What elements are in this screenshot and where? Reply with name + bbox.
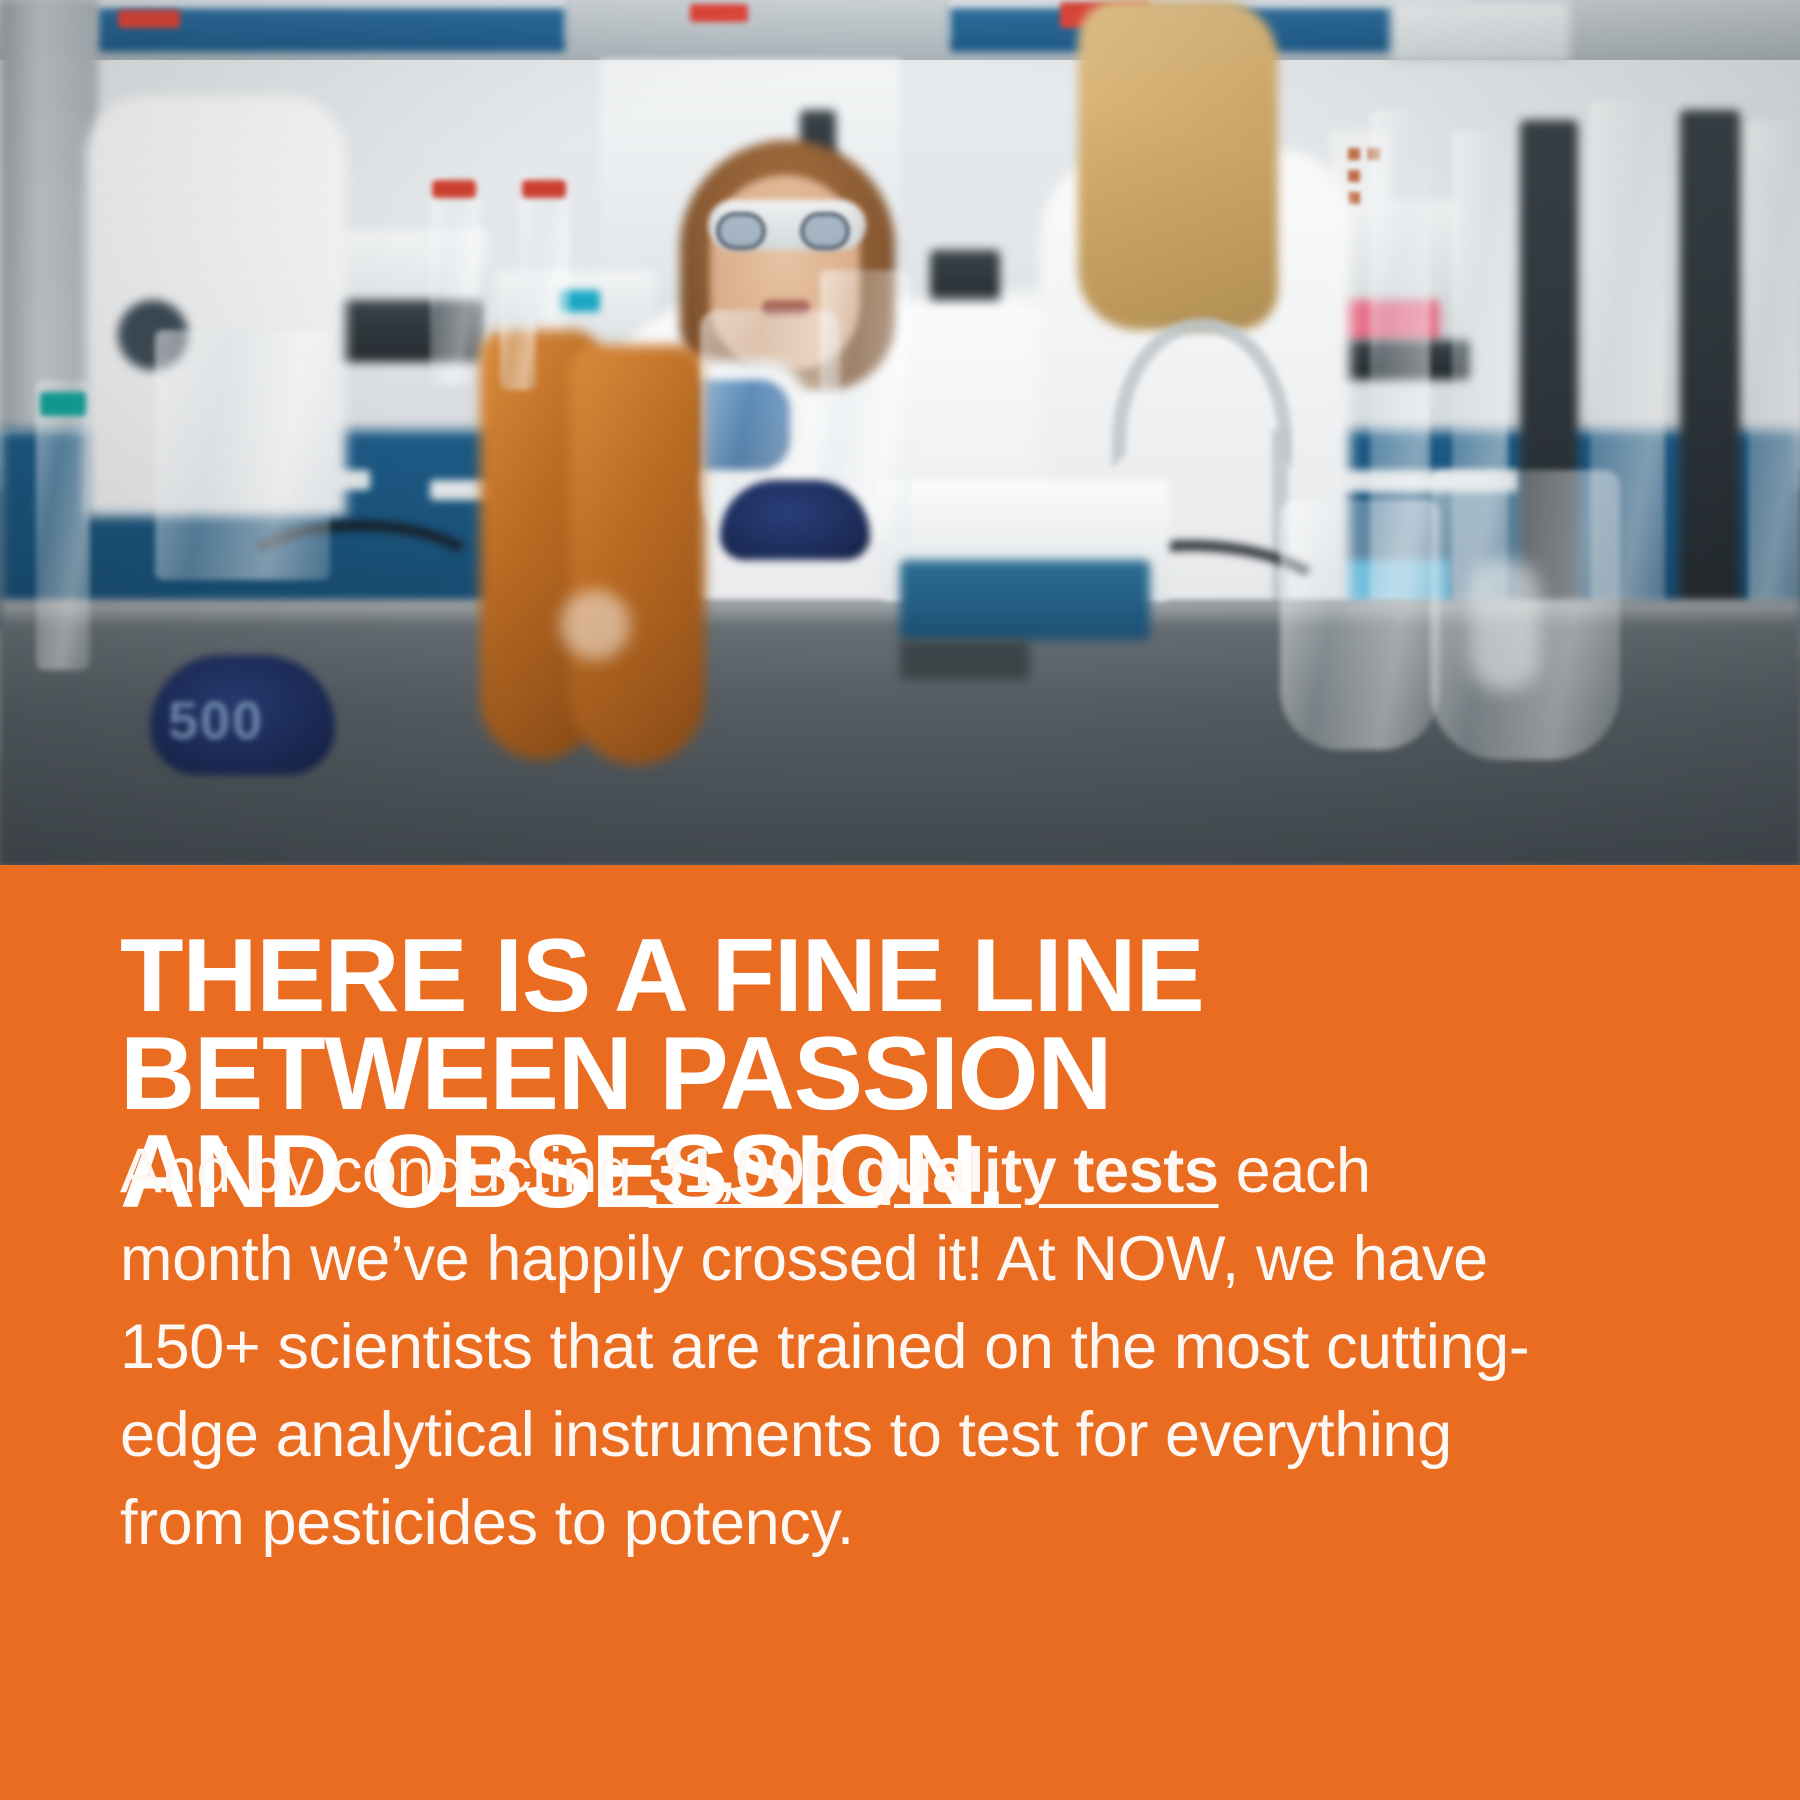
pipette-1 xyxy=(430,175,480,385)
dark-column-2 xyxy=(1680,110,1740,660)
amber-bottle-2 xyxy=(570,345,705,765)
promo-card: 500 THERE IS A FINE LINE BETWEEN PASSION… xyxy=(0,0,1800,1800)
cap-teal-far-left xyxy=(40,392,86,416)
amber-bottle-highlight xyxy=(560,590,630,660)
upper-shelf-right xyxy=(1390,0,1570,62)
glass-highlight-right xyxy=(1470,560,1540,690)
scientist-right-hair xyxy=(1078,0,1278,330)
flask-blue-liquid-center xyxy=(720,480,870,560)
outlet-dot-c xyxy=(1348,170,1360,182)
cap-red-1 xyxy=(432,180,476,198)
lab-photo: 500 xyxy=(0,0,1800,865)
graduated-cylinder-far-left xyxy=(36,380,90,670)
body-copy: And by conducting 31,000 quality tests e… xyxy=(120,1127,1560,1567)
orange-message-panel: THERE IS A FINE LINE BETWEEN PASSION AND… xyxy=(0,865,1800,1800)
amber-bottle-1-neck xyxy=(500,320,536,390)
beaker-right-foreground xyxy=(1280,500,1440,750)
red-marker-mid xyxy=(690,4,748,22)
flask-neck-left xyxy=(155,330,330,580)
balance-shadow xyxy=(900,640,1030,680)
body-copy-part1: And by conducting xyxy=(120,1136,649,1206)
red-marker-left xyxy=(118,10,180,28)
goggles-lens-right xyxy=(800,212,850,250)
outlet-dot-d xyxy=(1348,192,1360,204)
analytical-balance-base xyxy=(900,560,1150,640)
quality-tests-highlight: 31,000 quality tests xyxy=(649,1136,1219,1206)
goggles-lens-left xyxy=(716,212,766,250)
outlet-dot-a xyxy=(1348,148,1360,160)
cap-red-2 xyxy=(522,180,566,198)
flask-volume-label: 500 xyxy=(168,690,264,752)
glass-cylinder-4 xyxy=(1748,120,1800,660)
